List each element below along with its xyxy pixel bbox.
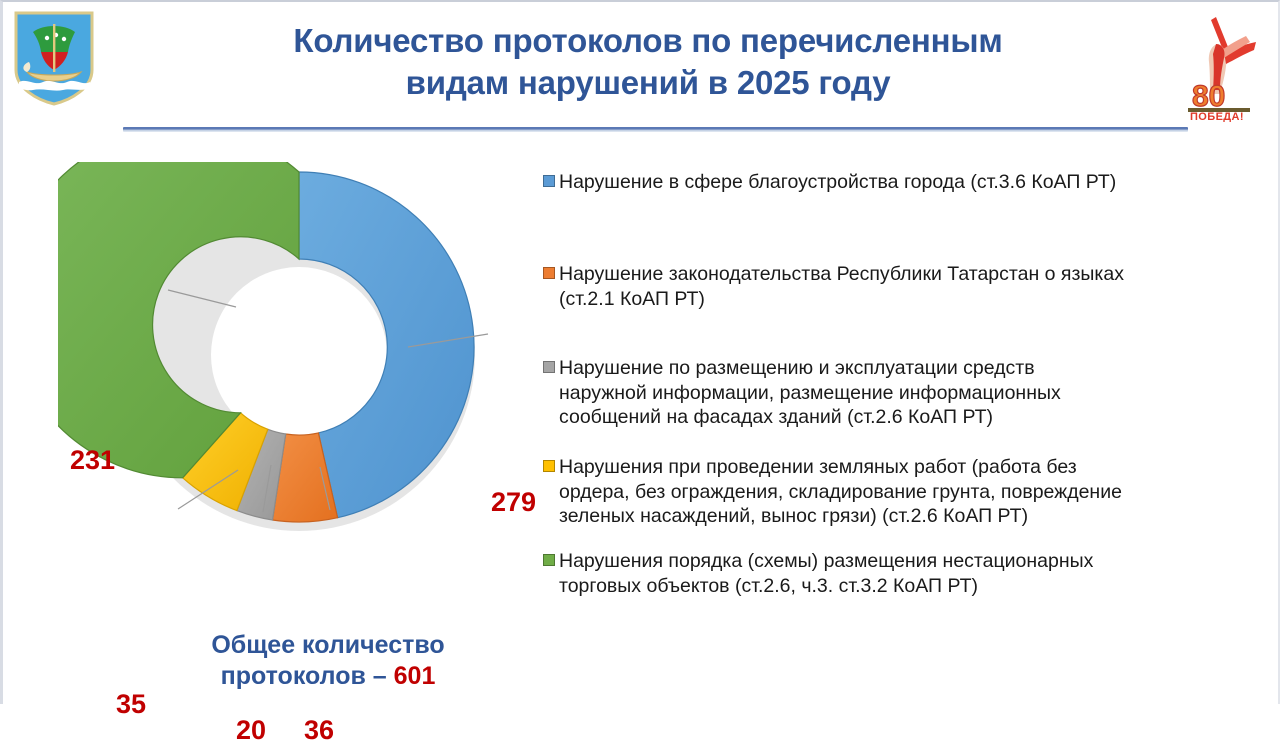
total-caption: Общее количество протоколов – 601 — [93, 630, 563, 692]
legend-line: торговых объектов (ст.2.6, ч.3. ст.3.2 К… — [559, 575, 978, 597]
legend-marker-gray — [543, 361, 555, 373]
total-caption-line-2: протоколов – 601 — [93, 661, 563, 692]
legend-line: Нарушение законодательства Республики Та… — [559, 263, 1124, 285]
legend-line: Нарушение в сфере благоустройства города… — [559, 171, 1116, 193]
total-caption-line-1: Общее количество — [93, 630, 563, 661]
legend-line: наружной информации, размещение информац… — [559, 382, 1061, 404]
legend-marker-yellow — [543, 460, 555, 472]
doughnut-chart: 231 279 35 20 36 — [58, 162, 538, 602]
legend-label-blue: Нарушение в сфере благоустройства города… — [559, 170, 1116, 195]
data-label-gray: 20 — [236, 715, 266, 746]
doughnut-chart-svg — [58, 162, 538, 602]
legend-label-orange: Нарушение законодательства Республики Та… — [559, 262, 1124, 311]
title-line-1: Количество протоколов по перечисленным — [123, 20, 1173, 62]
legend-line: Нарушения порядка (схемы) размещения нес… — [559, 550, 1093, 572]
legend-label-yellow: Нарушения при проведении земляных работ … — [559, 455, 1122, 529]
slide-canvas: 80 ПОБЕДА! Количество протоколов по пере… — [0, 0, 1280, 704]
victory-80-emblem-icon: 80 ПОБЕДА! — [1180, 14, 1260, 122]
legend-item-yazyki[interactable]: Нарушение законодательства Республики Та… — [543, 262, 1263, 311]
data-label-orange: 36 — [304, 715, 334, 746]
legend-item-nestacionarnye-obekty[interactable]: Нарушения порядка (схемы) размещения нес… — [543, 549, 1263, 598]
legend-line: сообщений на фасадах зданий (ст.2.6 КоАП… — [559, 406, 993, 428]
legend-marker-orange — [543, 267, 555, 279]
legend-line: зеленых насаждений, вынос грязи) (ст.2.6… — [559, 505, 1028, 527]
total-value: 601 — [394, 662, 436, 690]
legend-line: Нарушение по размещению и эксплуатации с… — [559, 357, 1035, 379]
title-divider — [123, 127, 1188, 132]
legend-marker-blue — [543, 175, 555, 187]
legend-label-green: Нарушения порядка (схемы) размещения нес… — [559, 549, 1093, 598]
page-title: Количество протоколов по перечисленным в… — [123, 20, 1173, 104]
legend-label-gray: Нарушение по размещению и эксплуатации с… — [559, 356, 1061, 430]
title-line-2: видам нарушений в 2025 году — [123, 62, 1173, 104]
coat-of-arms-icon — [11, 10, 97, 106]
svg-text:ПОБЕДА!: ПОБЕДА! — [1190, 111, 1244, 122]
data-label-blue: 279 — [491, 487, 536, 518]
legend-line: Нарушения при проведении земляных работ … — [559, 456, 1077, 478]
legend-line: ордера, без ограждения, складирование гр… — [559, 481, 1122, 503]
legend-item-blagoustroystvo[interactable]: Нарушение в сфере благоустройства города… — [543, 170, 1263, 195]
legend-item-naruzhnaya-informaciya[interactable]: Нарушение по размещению и эксплуатации с… — [543, 356, 1263, 430]
data-label-yellow: 35 — [116, 689, 146, 720]
legend-line: (ст.2.1 КоАП РТ) — [559, 288, 705, 310]
legend-marker-green — [543, 554, 555, 566]
data-label-green: 231 — [70, 445, 115, 476]
legend-item-zemlyanye-raboty[interactable]: Нарушения при проведении земляных работ … — [543, 455, 1263, 529]
total-caption-prefix: протоколов – — [221, 662, 394, 690]
